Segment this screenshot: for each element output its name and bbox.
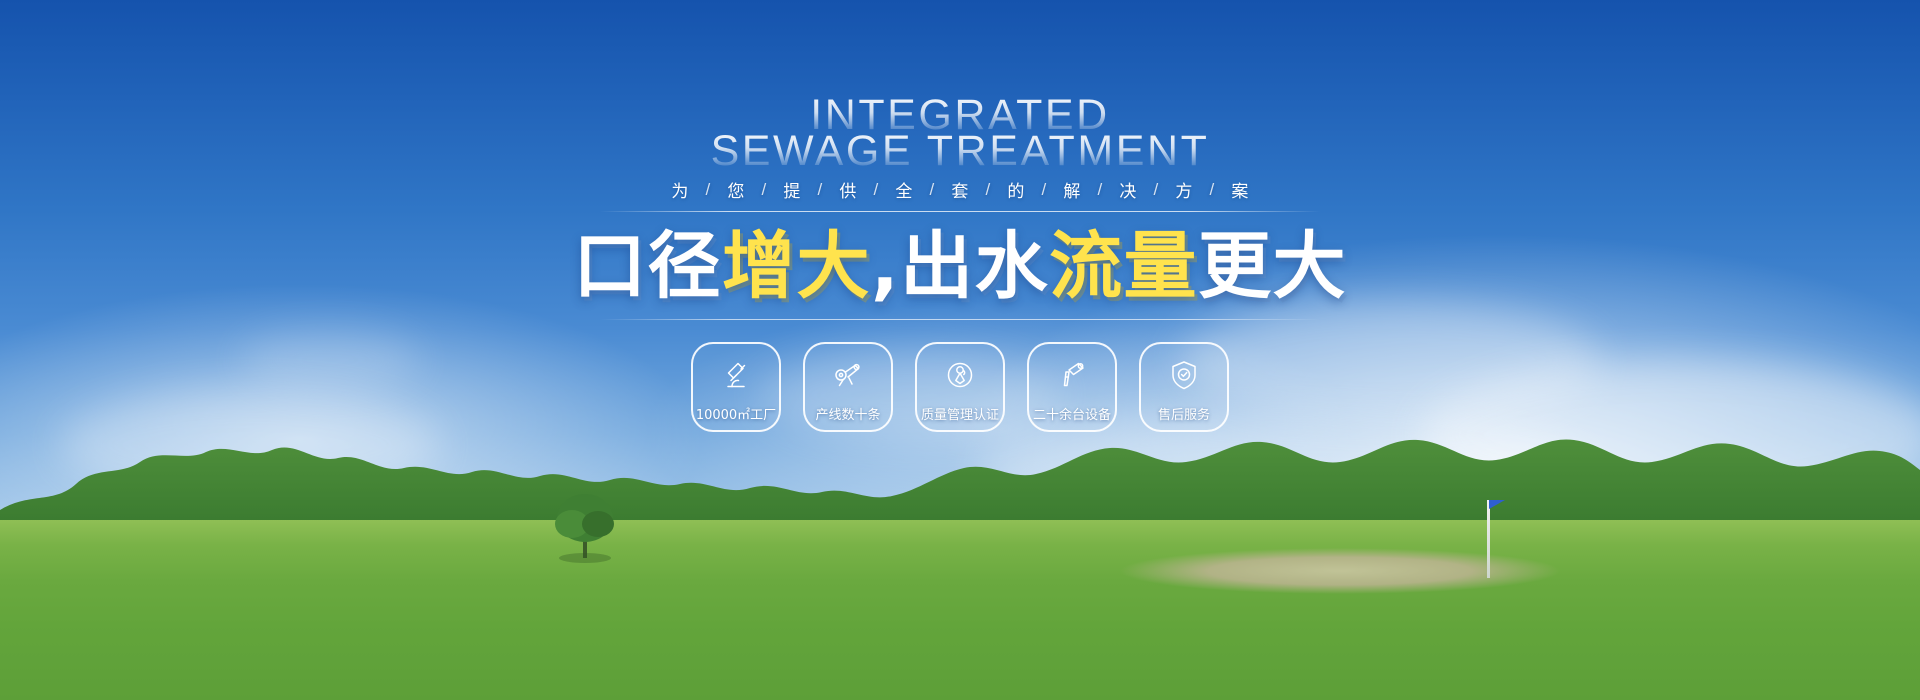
feature-badge-list: 10000㎡工厂 产线数十条 [691, 342, 1229, 432]
tagline-separator: / [751, 180, 777, 200]
headline-segment-accent: 增大 [722, 224, 871, 309]
tagline-separator: / [919, 180, 945, 200]
divider-top [600, 211, 1320, 212]
banner-content: INTEGRATED SEWAGE TREATMENT 为 / 您 / 提 / … [0, 0, 1920, 700]
tagline-char: 提 [777, 177, 807, 202]
tagline-separator: / [863, 180, 889, 200]
english-eyebrow-heading: INTEGRATED SEWAGE TREATMENT [711, 96, 1210, 171]
tagline-char: 方 [1169, 177, 1199, 202]
quality-certification-icon [943, 358, 977, 392]
tagline-separator: / [1143, 180, 1169, 200]
feature-badge-label: 二十余台设备 [1033, 404, 1111, 423]
equipment-icon [1055, 358, 1089, 392]
tagline-char: 您 [721, 177, 751, 202]
feature-badge-factory[interactable]: 10000㎡工厂 [691, 342, 781, 432]
feature-badge-production-lines[interactable]: 产线数十条 [803, 342, 893, 432]
production-line-icon [831, 358, 865, 392]
tagline-separator: / [1031, 180, 1057, 200]
tagline-char: 全 [889, 177, 919, 202]
eyebrow-line-2: SEWAGE TREATMENT [711, 132, 1210, 172]
tagline-separator: / [695, 180, 721, 200]
feature-badge-equipment[interactable]: 二十余台设备 [1027, 342, 1117, 432]
divider-bottom [600, 319, 1320, 320]
tagline-separator: / [1199, 180, 1225, 200]
feature-badge-label: 10000㎡工厂 [696, 404, 776, 423]
tagline-char: 解 [1057, 177, 1087, 202]
tagline-char: 案 [1225, 177, 1255, 202]
tagline-separator: / [1087, 180, 1113, 200]
tagline-char: 套 [945, 177, 975, 202]
tagline-separator: / [975, 180, 1001, 200]
hero-banner: INTEGRATED SEWAGE TREATMENT 为 / 您 / 提 / … [0, 0, 1920, 700]
feature-badge-label: 质量管理认证 [921, 404, 999, 423]
tagline-char: 决 [1113, 177, 1143, 202]
headline-segment: 更大 [1198, 224, 1347, 309]
feature-badge-label: 产线数十条 [815, 404, 880, 423]
tagline: 为 / 您 / 提 / 供 / 全 / 套 / 的 / 解 / 决 / 方 / … [665, 177, 1255, 202]
feature-badge-after-sales[interactable]: 售后服务 [1139, 342, 1229, 432]
after-sales-shield-icon [1167, 358, 1201, 392]
tagline-char: 的 [1001, 177, 1031, 202]
headline-segment: ,出水 [871, 224, 1049, 309]
tagline-separator: / [807, 180, 833, 200]
feature-badge-quality-certification[interactable]: 质量管理认证 [915, 342, 1005, 432]
headline-segment: 口径 [573, 224, 722, 309]
tagline-char: 为 [665, 177, 695, 202]
tagline-char: 供 [833, 177, 863, 202]
page-title: 口径增大,出水流量更大 [573, 228, 1347, 305]
microscope-icon [719, 358, 753, 392]
headline-segment-accent: 流量 [1049, 224, 1198, 309]
feature-badge-label: 售后服务 [1158, 404, 1210, 423]
